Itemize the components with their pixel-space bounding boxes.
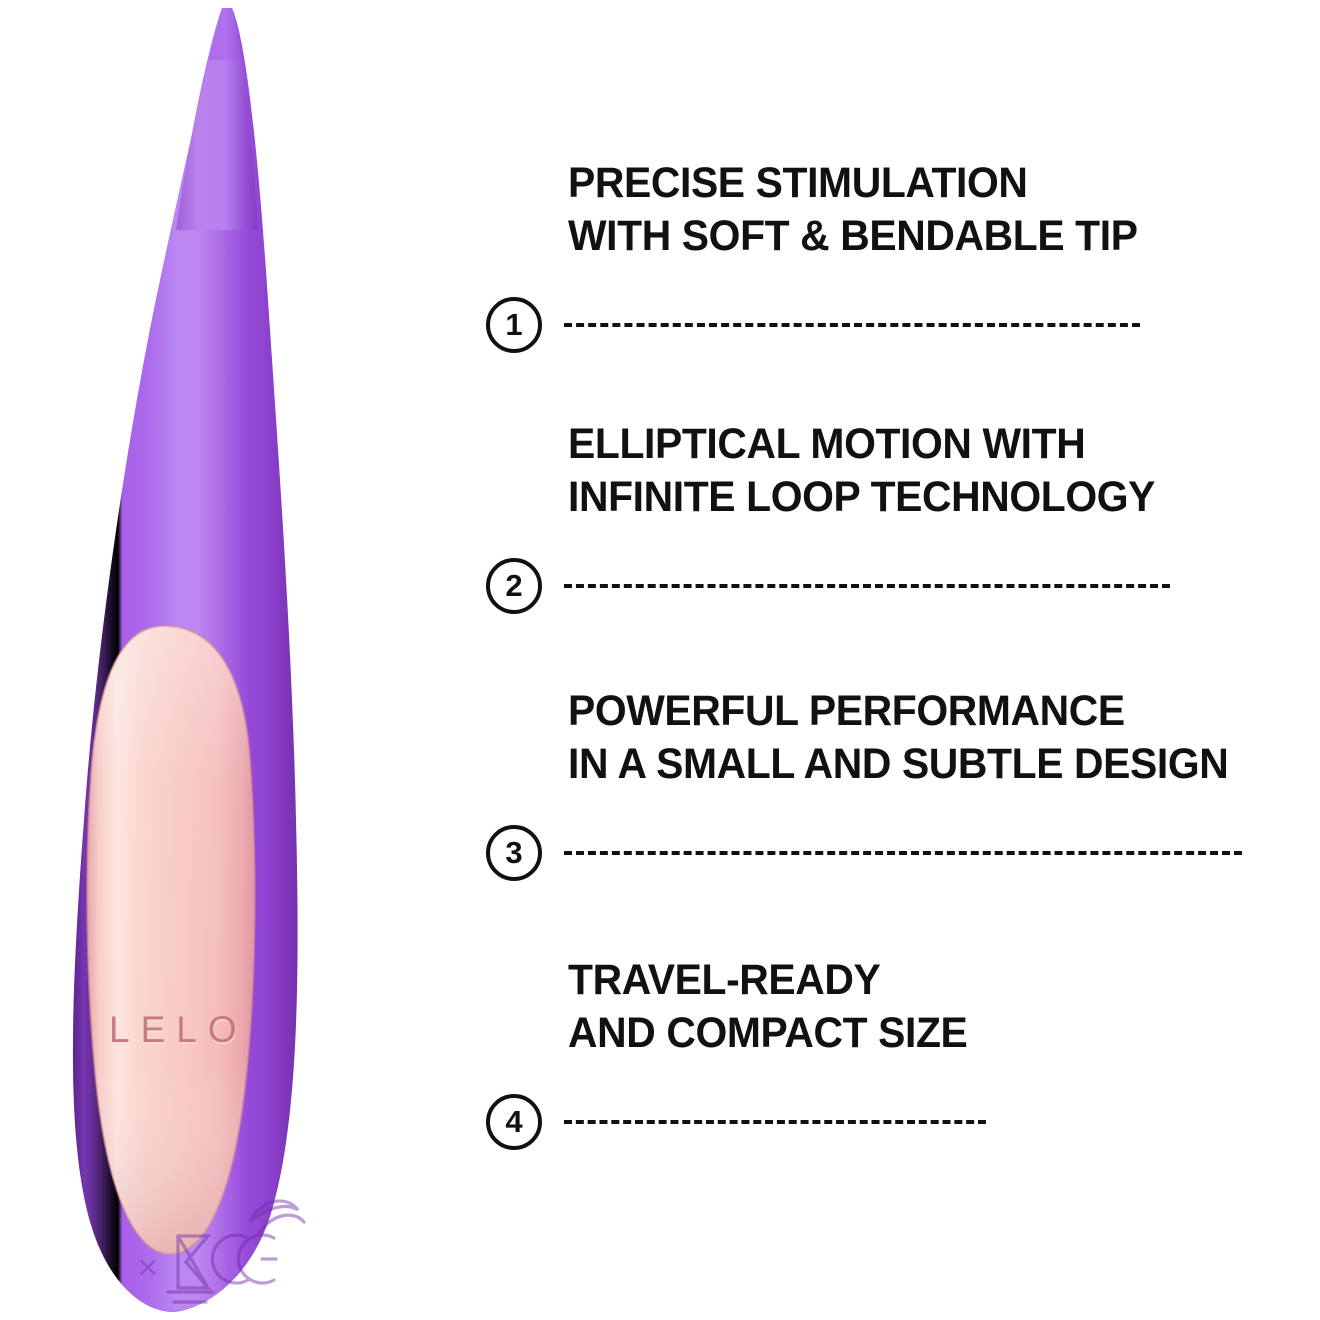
feature-caption-1-line-2: WITH SOFT & BENDABLE TIP (568, 210, 1138, 263)
feature-number-badge-3: 3 (486, 825, 542, 881)
feature-number-2: 2 (505, 570, 522, 601)
feature-caption-3-line-1: POWERFUL PERFORMANCE (568, 685, 1228, 738)
feature-caption-3: POWERFUL PERFORMANCE IN A SMALL AND SUBT… (568, 685, 1228, 791)
feature-number-3: 3 (505, 837, 522, 868)
feature-caption-2-line-2: INFINITE LOOP TECHNOLOGY (568, 471, 1155, 524)
feature-number-badge-4: 4 (486, 1094, 542, 1150)
feature-caption-1-line-1: PRECISE STIMULATION (568, 157, 1138, 210)
feature-number-1: 1 (505, 309, 522, 340)
feature-caption-4: TRAVEL-READY AND COMPACT SIZE (568, 954, 967, 1060)
feature-caption-3-line-2: IN A SMALL AND SUBTLE DESIGN (568, 738, 1228, 791)
feature-caption-2: ELLIPTICAL MOTION WITH INFINITE LOOP TEC… (568, 418, 1155, 524)
feature-divider-2 (564, 584, 1170, 588)
feature-caption-4-line-2: AND COMPACT SIZE (568, 1007, 967, 1060)
feature-caption-1: PRECISE STIMULATION WITH SOFT & BENDABLE… (568, 157, 1138, 263)
feature-caption-4-line-1: TRAVEL-READY (568, 954, 967, 1007)
feature-number-badge-2: 2 (486, 558, 542, 614)
feature-caption-2-line-1: ELLIPTICAL MOTION WITH (568, 418, 1155, 471)
feature-divider-3 (564, 851, 1242, 855)
feature-divider-1 (564, 323, 1140, 327)
feature-divider-4 (564, 1120, 986, 1124)
feature-list: 1 PRECISE STIMULATION WITH SOFT & BENDAB… (0, 0, 1320, 1320)
feature-number-4: 4 (505, 1106, 522, 1137)
feature-number-badge-1: 1 (486, 297, 542, 353)
